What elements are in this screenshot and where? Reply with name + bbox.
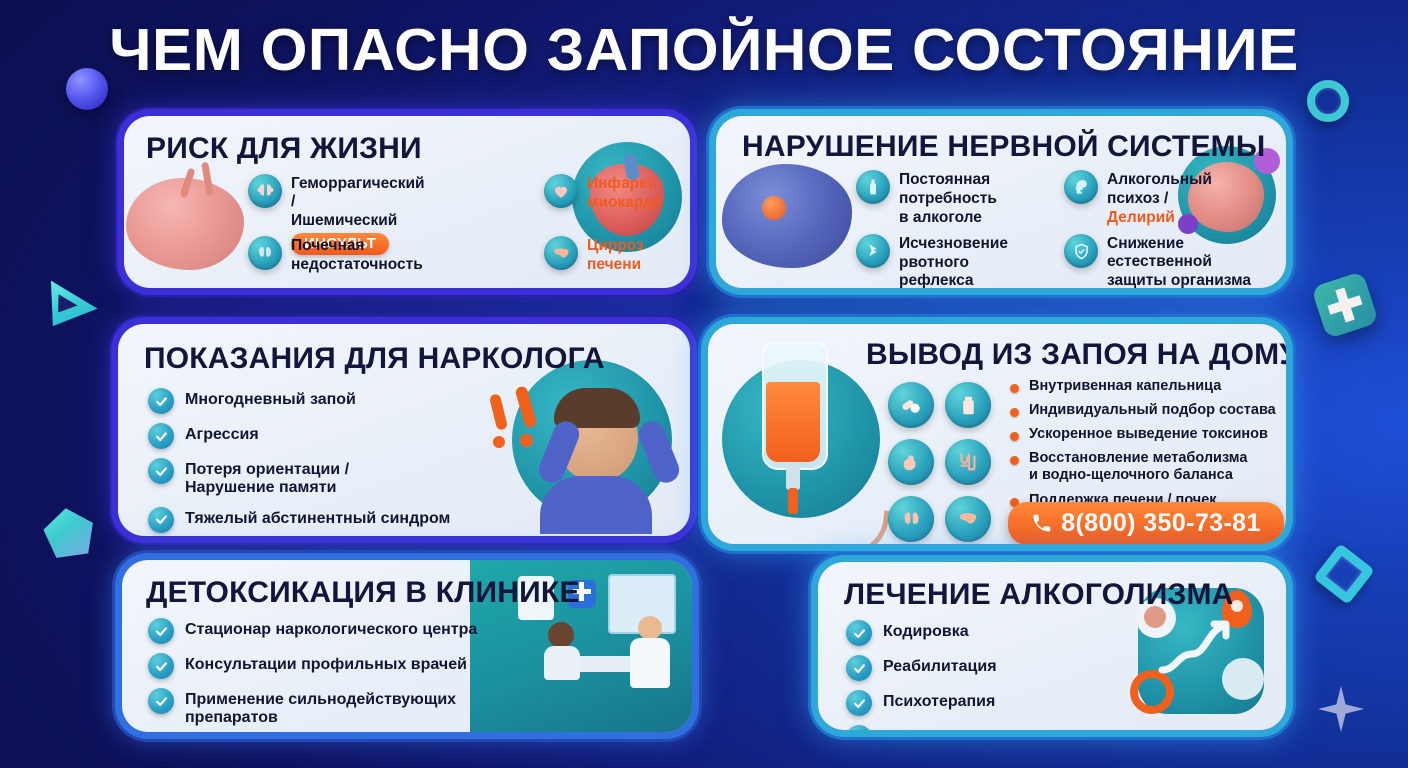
list-item: Ускоренное выведение токсинов: [1010, 426, 1280, 443]
sparkle-icon: [1318, 686, 1364, 732]
nervous-item-psychosis: Алкогольный психоз / Делирий: [1064, 170, 1214, 227]
risk-item-stroke-line2: Ишемический: [291, 211, 425, 230]
bullet-dot-icon: [1010, 432, 1019, 441]
clinic-doctor-head: [638, 616, 662, 640]
check-icon: [148, 458, 174, 484]
card-title-indications: ПОКАЗАНИЯ ДЛЯ НАРКОЛОГА: [144, 342, 605, 376]
card-alcoholism-treatment: ЛЕЧЕНИЕ АЛКОГОЛИЗМА Кодировка Реабилитац…: [818, 562, 1286, 730]
bullet-dot-icon: [1010, 408, 1019, 417]
check-icon: [846, 690, 872, 716]
list-item-label: Агрессия: [185, 423, 259, 444]
list-item-label: Индивидуальный подбор состава: [1029, 402, 1276, 419]
iv-valve: [786, 464, 800, 490]
list-item: Реабилитация: [846, 655, 1106, 681]
list-item-label: Восстановление метаболизма и водно-щелоч…: [1029, 450, 1247, 484]
detox-list: Стационар наркологического центра Консул…: [148, 618, 548, 732]
stomach-icon: [888, 439, 934, 485]
pentagon-icon: [41, 505, 97, 559]
list-item: Психотерапия: [846, 690, 1106, 716]
card-title-home: ВЫВОД ИЗ ЗАПОЯ НА ДОМУ: [866, 338, 1286, 372]
list-item: Физиопроцедуры: [846, 725, 1106, 730]
page-title: ЧЕМ ОПАСНО ЗАПОЙНОЕ СОСТОЯНИЕ: [0, 16, 1408, 84]
list-item-label: Внутривенная капельница: [1029, 378, 1221, 395]
card-risk-for-life: РИСК ДЛЯ ЖИЗНИ Геморрагический / Ишемиче…: [124, 116, 690, 288]
medicine-bottle-icon: [945, 382, 991, 428]
list-item: Тяжелый абстинентный синдром: [148, 507, 528, 533]
card-title-treatment: ЛЕЧЕНИЕ АЛКОГОЛИЗМА: [844, 578, 1234, 612]
list-item: Консультации профильных врачей: [148, 653, 548, 679]
list-item: Потеря ориентации / Нарушение памяти: [148, 458, 528, 498]
iv-tube: [792, 501, 890, 544]
list-item: Многодневный запой: [148, 388, 528, 414]
phone-number: 8(800) 350-73-81: [1061, 509, 1261, 538]
head-psyche-icon: [1064, 170, 1098, 204]
risk-item-cirrhosis-line2: печени: [587, 255, 644, 274]
list-item: Применение сильнодействующих препаратов: [148, 688, 548, 728]
card-clinic-detox: ДЕТОКСИКАЦИЯ В КЛИНИКЕ Стационар нарколо…: [122, 560, 692, 732]
risk-item-infarction-line2: миокарда: [587, 193, 661, 212]
nervous-psychosis-l1: Алкогольный: [1107, 170, 1212, 189]
check-icon: [148, 507, 174, 533]
list-item-label: Ускоренное выведение токсинов: [1029, 426, 1268, 443]
phone-cta-button[interactable]: 8(800) 350-73-81: [1008, 502, 1284, 544]
neuron-core-decor: [762, 196, 786, 220]
check-icon: [846, 725, 872, 730]
clinic-person-head: [548, 622, 574, 648]
home-benefits-list: Внутривенная капельница Индивидуальный п…: [1010, 378, 1280, 516]
nervous-craving-l2: потребность: [899, 189, 997, 208]
patient-body: [540, 476, 652, 534]
infographic-poster: ЧЕМ ОПАСНО ЗАПОЙНОЕ СОСТОЯНИЕ РИСК ДЛЯ Ж…: [0, 0, 1408, 768]
bottle-icon: [856, 170, 890, 204]
kidney-icon: [248, 236, 282, 270]
check-icon: [846, 655, 872, 681]
heart-icon: [544, 174, 578, 208]
risk-item-infarction-line1: Инфаркт: [587, 174, 661, 193]
nervous-vomit-l2: рвотного рефлекса: [899, 253, 1031, 288]
risk-item-cirrhosis: Цирроз печени: [544, 236, 690, 274]
vomit-reflex-icon: [856, 234, 890, 268]
cross-icon: [1311, 271, 1379, 339]
indications-list: Многодневный запой Агрессия Потеря ориен…: [148, 388, 528, 536]
list-item-label: Тяжелый абстинентный синдром: [185, 507, 450, 528]
list-item-label: Стационар наркологического центра: [185, 618, 477, 639]
list-item: Стационар наркологического центра: [148, 618, 548, 644]
risk-item-kidney: Почечная недостаточность: [248, 236, 418, 274]
list-item-label: Кодировка: [883, 620, 969, 641]
check-icon: [148, 388, 174, 414]
phone-icon: [1031, 513, 1052, 534]
neuron-brain-illustration: [722, 164, 852, 268]
list-item-label: Реабилитация: [883, 655, 997, 676]
check-icon: [846, 620, 872, 646]
list-item-label: Потеря ориентации / Нарушение памяти: [185, 458, 349, 498]
list-item: Индивидуальный подбор состава: [1010, 402, 1280, 419]
check-icon: [148, 653, 174, 679]
home-organ-icons: [888, 382, 991, 542]
nervous-vomit-l1: Исчезновение: [899, 234, 1031, 253]
kidneys-icon: [888, 496, 934, 542]
risk-item-cirrhosis-line1: Цирроз: [587, 236, 644, 255]
clinic-cross-bar-v: [579, 582, 584, 601]
card-indications: ПОКАЗАНИЯ ДЛЯ НАРКОЛОГА Многодневный зап…: [118, 324, 690, 536]
intestine-icon: [945, 439, 991, 485]
pills-icon: [888, 382, 934, 428]
list-item-label: Консультации профильных врачей: [185, 653, 467, 674]
clinic-doctor-body: [630, 638, 670, 688]
clinic-person-body: [544, 646, 580, 680]
card-nervous-system: НАРУШЕНИЕ НЕРВНОЙ СИСТЕМЫ Постоянная пот…: [716, 116, 1286, 288]
risk-item-kidney-line1: Почечная: [291, 236, 423, 255]
play-triangle-icon: [42, 277, 103, 333]
shield-check-icon: [1064, 234, 1098, 268]
nervous-immunity-l2: защиты организма: [1107, 271, 1269, 288]
list-item: Агрессия: [148, 423, 528, 449]
risk-item-infarction: Инфаркт миокарда: [544, 174, 690, 212]
risk-item-stroke-line1: Геморрагический /: [291, 174, 425, 211]
progress-arrow-icon: [1156, 618, 1240, 678]
list-item-label: Многодневный запой: [185, 388, 356, 409]
list-item-label: Психотерапия: [883, 690, 995, 711]
check-icon: [148, 423, 174, 449]
list-item: Кодировка: [846, 620, 1106, 646]
card-home-detox: ВЫВОД ИЗ ЗАПОЯ НА ДОМУ Внутривенна: [708, 324, 1286, 544]
brain-icon: [248, 174, 282, 208]
liver-icon: [945, 496, 991, 542]
nervous-psychosis-delirium: Делирий: [1107, 208, 1212, 227]
iv-fluid: [766, 382, 820, 462]
list-item-label: Применение сильнодействующих препаратов: [185, 688, 548, 728]
bullet-dot-icon: [1010, 456, 1019, 465]
nervous-item-immunity: Снижение естественной защиты организма: [1064, 234, 1269, 288]
nervous-item-craving: Постоянная потребность в алкоголе: [856, 170, 1011, 227]
nervous-psychosis-l2: психоз /: [1107, 189, 1212, 208]
liver-icon: [544, 236, 578, 270]
bullet-dot-icon: [1010, 384, 1019, 393]
ring-icon: [1307, 80, 1349, 122]
nervous-craving-l1: Постоянная: [899, 170, 997, 189]
nervous-immunity-l1: Снижение естественной: [1107, 234, 1269, 271]
list-item: Внутривенная капельница: [1010, 378, 1280, 395]
treatment-list: Кодировка Реабилитация Психотерапия Физи…: [846, 620, 1106, 730]
check-icon: [148, 618, 174, 644]
nervous-craving-l3: в алкоголе: [899, 208, 997, 227]
list-item-label: Физиопроцедуры: [883, 725, 1024, 730]
square-ring-icon: [1313, 543, 1375, 605]
list-item: Восстановление метаболизма и водно-щелоч…: [1010, 450, 1280, 484]
card-title-detox: ДЕТОКСИКАЦИЯ В КЛИНИКЕ: [146, 576, 580, 610]
card-title-risk: РИСК ДЛЯ ЖИЗНИ: [146, 132, 422, 166]
check-icon: [148, 688, 174, 714]
card-title-nervous: НАРУШЕНИЕ НЕРВНОЙ СИСТЕМЫ: [742, 130, 1265, 164]
risk-item-kidney-line2: недостаточность: [291, 255, 423, 274]
nervous-item-vomit: Исчезновение рвотного рефлекса: [856, 234, 1031, 288]
